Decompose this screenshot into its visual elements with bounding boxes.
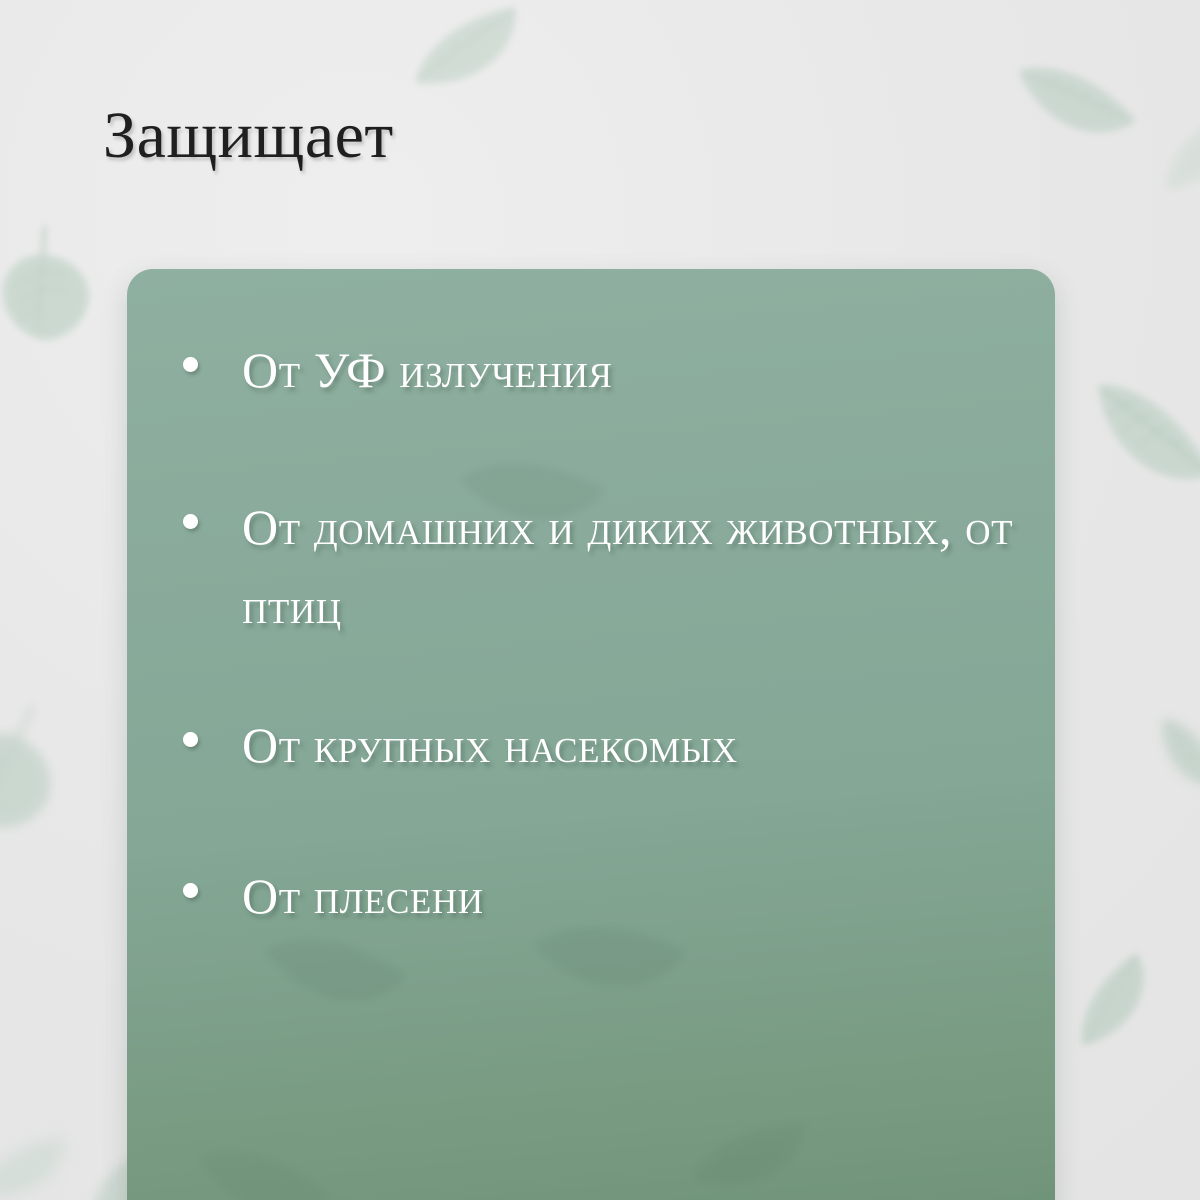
list-item: От плесени (183, 857, 1015, 936)
list-item-label: От крупных насекомых (242, 706, 738, 785)
list-item-label: От домашних и диких животных, от птиц (242, 488, 1015, 646)
slide-canvas: Защищает (0, 0, 1200, 1200)
leaf-icon (1129, 698, 1200, 815)
pointed-leaf-icon (991, 27, 1152, 181)
leaf-icon (0, 1112, 93, 1200)
bullet-dot-icon (183, 357, 198, 372)
page-title: Защищает (103, 101, 394, 170)
leaf-icon (671, 1067, 834, 1200)
list-item: От УФ излучения (183, 331, 1015, 410)
leaf-icon (1038, 334, 1200, 545)
leaf-icon (151, 1076, 362, 1200)
leaf-icon (1139, 95, 1200, 217)
protection-bullet-list: От УФ излучения От домашних и диких живо… (127, 269, 1055, 936)
leaf-icon (1047, 935, 1190, 1078)
heart-leaf-icon (0, 688, 81, 852)
list-item-label: От УФ излучения (242, 331, 613, 410)
bullet-dot-icon (183, 732, 198, 747)
list-item-label: От плесени (242, 857, 484, 936)
list-item: От домашних и диких животных, от птиц (183, 488, 1015, 646)
bullet-dot-icon (183, 514, 198, 529)
bullet-dot-icon (183, 883, 198, 898)
pointed-leaf-icon (391, 0, 547, 123)
content-card: От УФ излучения От домашних и диких живо… (127, 269, 1055, 1200)
list-item: От крупных насекомых (183, 706, 1015, 785)
heart-leaf-icon (0, 213, 108, 360)
